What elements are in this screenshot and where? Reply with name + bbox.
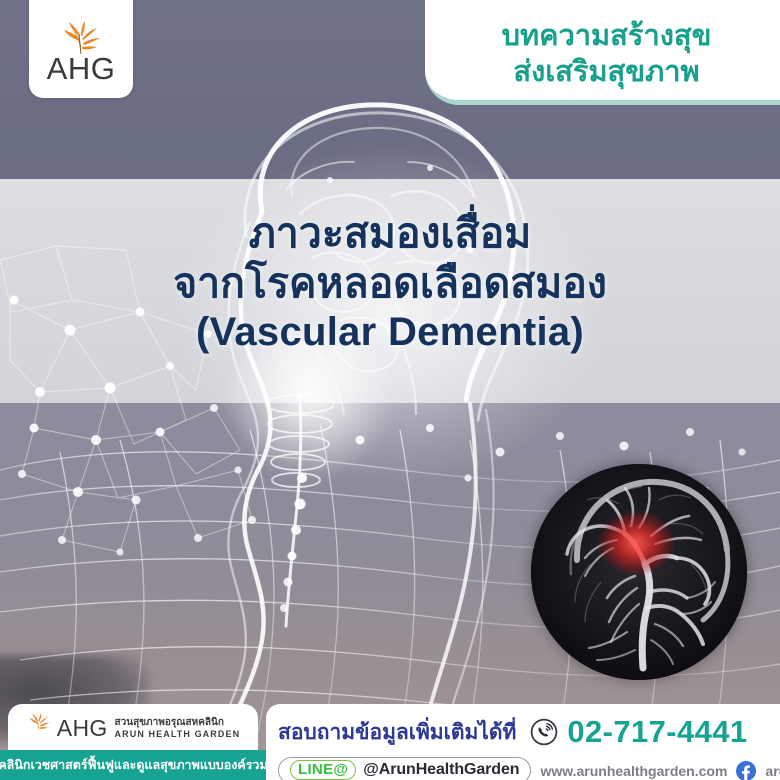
title-line-2: จากโรคหลอดเลือดสมอง: [0, 258, 780, 308]
phone-number[interactable]: 02-717-4441: [567, 714, 747, 750]
line-id: @ArunHealthGarden: [363, 761, 519, 779]
facebook-icon[interactable]: [736, 761, 756, 780]
footer-brand-panel: AHG สวนสุขภาพอรุณสหคลินิก ARUN HEALTH GA…: [8, 704, 258, 780]
poster-canvas: AHG บทความสร้างสุข ส่งเสริมสุขภาพ ภาวะสม…: [0, 0, 780, 780]
article-banner-line1: บทความสร้างสุข: [502, 19, 712, 54]
footer-clinic-names: สวนสุขภาพอรุณสหคลินิก ARUN HEALTH GARDEN: [115, 717, 241, 738]
footer-contact-bottom-row: LINE@ @ArunHealthGarden www.arunhealthga…: [278, 757, 780, 780]
facebook-page-name[interactable]: arunhealthgarden: [765, 763, 780, 779]
clinic-tagline-badge: คลินิกเวชศาสตร์ฟื้นฟูและดูแลสุขภาพแบบองค…: [0, 750, 282, 780]
footer-brand-row: AHG สวนสุขภาพอรุณสหคลินิก ARUN HEALTH GA…: [26, 713, 240, 743]
line-contact-chip[interactable]: LINE@ @ArunHealthGarden: [278, 757, 531, 780]
ahg-leaf-logo-icon-small: [26, 713, 52, 732]
page-title: ภาวะสมองเสื่อม จากโรคหลอดเลือดสมอง (Vasc…: [0, 208, 780, 357]
scan-hotspot-icon: [599, 512, 673, 574]
clinic-name-th: สวนสุขภาพอรุณสหคลินิก: [115, 717, 241, 728]
clinic-name-en: ARUN HEALTH GARDEN: [115, 729, 241, 739]
logo-tile: AHG: [29, 0, 133, 98]
line-badge: LINE@: [290, 760, 356, 780]
article-banner-line2: ส่งเสริมสุขภาพ: [513, 55, 699, 90]
footer-contact-panel: สอบถามข้อมูลเพิ่มเติมได้ที่ 02-717-4441 …: [266, 704, 780, 780]
title-line-1: ภาวะสมองเสื่อม: [0, 208, 780, 258]
article-banner: บทความสร้างสุข ส่งเสริมสุขภาพ: [425, 0, 780, 105]
website-url[interactable]: www.arunhealthgarden.com: [540, 763, 727, 779]
footer-logo-initials: AHG: [57, 715, 108, 742]
logo-initials: AHG: [47, 53, 116, 84]
angiogram-scan-image: [531, 464, 747, 680]
phone-contact[interactable]: 02-717-4441: [530, 714, 747, 750]
title-line-3: (Vascular Dementia): [0, 308, 780, 357]
footer-contact-top-row: สอบถามข้อมูลเพิ่มเติมได้ที่ 02-717-4441: [278, 714, 780, 750]
contact-prompt-label: สอบถามข้อมูลเพิ่มเติมได้ที่: [278, 716, 516, 749]
phone-ringing-icon: [530, 718, 558, 746]
ahg-leaf-logo-icon: [58, 21, 104, 55]
